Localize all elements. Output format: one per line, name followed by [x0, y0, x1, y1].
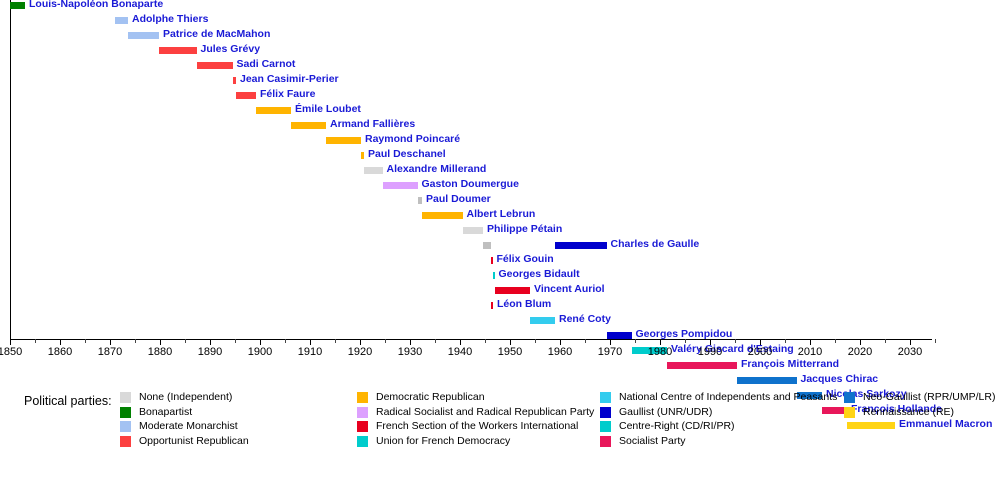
axis-tick-label: 1910 [298, 346, 322, 358]
timeline-bar[interactable] [607, 332, 632, 339]
legend-color-swatch [844, 407, 855, 418]
legend-color-swatch [120, 436, 131, 447]
timeline-row: Jean Casimir-Perier [0, 75, 1000, 90]
timeline-bar[interactable] [383, 182, 418, 189]
timeline-bar-label: Vincent Auriol [534, 283, 605, 295]
timeline-bar[interactable] [256, 107, 291, 114]
timeline-bar[interactable] [495, 287, 530, 294]
axis-tick-minor [485, 339, 486, 343]
axis-tick-minor [535, 339, 536, 343]
timeline-bar-label: Patrice de MacMahon [163, 28, 270, 40]
axis-tick-major [560, 339, 561, 345]
axis-tick-label: 2020 [848, 346, 872, 358]
legend-item-label: Socialist Party [619, 434, 686, 448]
axis-tick-minor [585, 339, 586, 343]
legend-item-label: Opportunist Republican [139, 434, 249, 448]
axis-tick-minor [385, 339, 386, 343]
timeline-row: Georges Bidault [0, 270, 1000, 285]
axis-tick-major [610, 339, 611, 345]
axis-tick-minor [735, 339, 736, 343]
axis-tick-minor [635, 339, 636, 343]
axis-tick-label: 1880 [148, 346, 172, 358]
axis-tick-minor [85, 339, 86, 343]
axis-tick-major [910, 339, 911, 345]
legend-item-label: Radical Socialist and Radical Republican… [376, 405, 594, 419]
legend-color-swatch [120, 421, 131, 432]
timeline-bar[interactable] [10, 2, 25, 9]
axis-tick-minor [185, 339, 186, 343]
timeline-bar-label: Georges Pompidou [636, 328, 733, 340]
timeline-bar[interactable] [233, 77, 237, 84]
timeline-row: Philippe Pétain [0, 225, 1000, 240]
axis-tick-label: 1870 [98, 346, 122, 358]
axis-tick-label: 2000 [748, 346, 772, 358]
axis-tick-label: 1860 [48, 346, 72, 358]
timeline-bar[interactable] [667, 362, 737, 369]
timeline-bar[interactable] [555, 242, 607, 249]
plot-area: Louis-Napoléon BonaparteAdolphe ThiersPa… [0, 0, 1000, 345]
axis-tick-minor [135, 339, 136, 343]
axis-tick-label: 1890 [198, 346, 222, 358]
axis-tick-major [760, 339, 761, 345]
axis-tick-minor [335, 339, 336, 343]
timeline-row: Gaston Doumergue [0, 180, 1000, 195]
axis-tick-major [110, 339, 111, 345]
axis-tick-minor [935, 339, 936, 343]
timeline-bar[interactable] [491, 302, 494, 309]
legend-color-swatch [120, 392, 131, 403]
timeline-row: Léon Blum [0, 300, 1000, 315]
legend-color-swatch [357, 407, 368, 418]
legend-item-label: National Centre of Independents and Peas… [619, 390, 837, 404]
timeline-bar[interactable] [128, 32, 159, 39]
timeline-bar[interactable] [493, 272, 495, 279]
axis-tick-major [460, 339, 461, 345]
timeline-chart-root: Louis-Napoléon BonaparteAdolphe ThiersPa… [0, 0, 1000, 487]
legend-color-swatch [120, 407, 131, 418]
timeline-bar-label: Jacques Chirac [801, 373, 879, 385]
legend-color-swatch [600, 392, 611, 403]
axis-tick-major [60, 339, 61, 345]
timeline-bar[interactable] [364, 167, 383, 174]
axis-tick-major [660, 339, 661, 345]
legend-color-swatch [357, 421, 368, 432]
axis-tick-minor [285, 339, 286, 343]
timeline-row: Raymond Poincaré [0, 135, 1000, 150]
axis-tick-major [410, 339, 411, 345]
timeline-bar[interactable] [326, 137, 361, 144]
timeline-row: Armand Fallières [0, 120, 1000, 135]
axis-tick-major [260, 339, 261, 345]
legend-color-swatch [600, 407, 611, 418]
axis-tick-major [810, 339, 811, 345]
legend-color-swatch [844, 392, 855, 403]
timeline-bar[interactable] [463, 227, 484, 234]
timeline-row: Félix Faure [0, 90, 1000, 105]
axis-tick-label: 1980 [648, 346, 672, 358]
axis-tick-major [510, 339, 511, 345]
axis-tick-label: 1930 [398, 346, 422, 358]
timeline-bar-label: Louis-Napoléon Bonaparte [29, 0, 163, 10]
timeline-row: Jules Grévy [0, 45, 1000, 60]
axis-tick-label: 1950 [498, 346, 522, 358]
legend-item-label: None (Independent) [139, 390, 232, 404]
legend-title: Political parties: [24, 394, 112, 408]
timeline-bar-label: Georges Bidault [499, 268, 580, 280]
timeline-bar-label: Philippe Pétain [487, 223, 562, 235]
timeline-bar-label: René Coty [559, 313, 611, 325]
timeline-bar[interactable] [291, 122, 326, 129]
axis-tick-label: 1940 [448, 346, 472, 358]
timeline-bar-label: Léon Blum [497, 298, 551, 310]
timeline-bar-label: Raymond Poincaré [365, 133, 460, 145]
timeline-bar-label: Paul Deschanel [368, 148, 446, 160]
legend-item-label: Neo-Gaullist (RPR/UMP/LR) [863, 390, 995, 404]
legend: Political parties: None (Independent)Bon… [0, 386, 1000, 487]
axis-tick-minor [35, 339, 36, 343]
axis-tick-minor [235, 339, 236, 343]
axis-tick-major [360, 339, 361, 345]
axis-tick-label: 1970 [598, 346, 622, 358]
timeline-row: Paul Deschanel [0, 150, 1000, 165]
timeline-bar[interactable] [491, 257, 493, 264]
axis-tick-label: 1990 [698, 346, 722, 358]
timeline-bar-label: Émile Loubet [295, 103, 361, 115]
timeline-bar[interactable] [422, 212, 463, 219]
timeline-bar[interactable] [236, 92, 256, 99]
legend-item-label: Union for French Democracy [376, 434, 510, 448]
legend-item-label: Gaullist (UNR/UDR) [619, 405, 712, 419]
timeline-bar-label: Valéry Giscard d'Estaing [671, 343, 794, 355]
timeline-bar[interactable] [115, 17, 128, 24]
timeline-row: Georges Pompidou [0, 330, 1000, 345]
legend-color-swatch [357, 392, 368, 403]
axis-tick-minor [885, 339, 886, 343]
axis-tick-minor [685, 339, 686, 343]
axis-tick-major [710, 339, 711, 345]
legend-color-swatch [600, 421, 611, 432]
timeline-bar-label: Adolphe Thiers [132, 13, 208, 25]
timeline-bar-label: François Mitterrand [741, 358, 839, 370]
axis-tick-label: 1850 [0, 346, 22, 358]
timeline-bar-label: Gaston Doumergue [422, 178, 519, 190]
timeline-bar[interactable] [197, 62, 233, 69]
axis-tick-label: 1960 [548, 346, 572, 358]
timeline-row: Sadi Carnot [0, 60, 1000, 75]
timeline-bar-label: Jean Casimir-Perier [240, 73, 339, 85]
axis-tick-label: 2030 [898, 346, 922, 358]
timeline-bar-label: Sadi Carnot [237, 58, 296, 70]
axis-tick-major [860, 339, 861, 345]
timeline-row: Adolphe Thiers [0, 15, 1000, 30]
timeline-bar[interactable] [530, 317, 555, 324]
timeline-bar-label: Charles de Gaulle [611, 238, 700, 250]
timeline-bar[interactable] [361, 152, 364, 159]
timeline-bar-label: Albert Lebrun [467, 208, 536, 220]
legend-item-label: Moderate Monarchist [139, 419, 238, 433]
axis-tick-label: 2010 [798, 346, 822, 358]
timeline-bar-label: Paul Doumer [426, 193, 491, 205]
timeline-row: René Coty [0, 315, 1000, 330]
timeline-bar-label: Félix Gouin [497, 253, 554, 265]
timeline-row: Patrice de MacMahon [0, 30, 1000, 45]
legend-item-label: Centre-Right (CD/RI/PR) [619, 419, 735, 433]
legend-color-swatch [357, 436, 368, 447]
axis-tick-minor [435, 339, 436, 343]
axis-tick-major [310, 339, 311, 345]
legend-item-label: Bonapartist [139, 405, 192, 419]
timeline-bar-label: Jules Grévy [201, 43, 261, 55]
axis-tick-minor [785, 339, 786, 343]
timeline-bar-label: Armand Fallières [330, 118, 415, 130]
legend-color-swatch [600, 436, 611, 447]
axis-tick-label: 1900 [248, 346, 272, 358]
timeline-bar-label: Alexandre Millerand [387, 163, 487, 175]
legend-item-label: Rennaissance (RE) [863, 405, 954, 419]
axis-tick-major [10, 339, 11, 345]
timeline-row: Émile Loubet [0, 105, 1000, 120]
timeline-bar[interactable] [418, 197, 423, 204]
axis-tick-minor [835, 339, 836, 343]
legend-item-label: French Section of the Workers Internatio… [376, 419, 578, 433]
axis-tick-major [160, 339, 161, 345]
axis-tick-major [210, 339, 211, 345]
timeline-bar-label: Félix Faure [260, 88, 315, 100]
legend-item-label: Democratic Republican [376, 390, 485, 404]
axis-tick-label: 1920 [348, 346, 372, 358]
timeline-bar[interactable] [159, 47, 197, 54]
timeline-bar[interactable] [737, 377, 797, 384]
